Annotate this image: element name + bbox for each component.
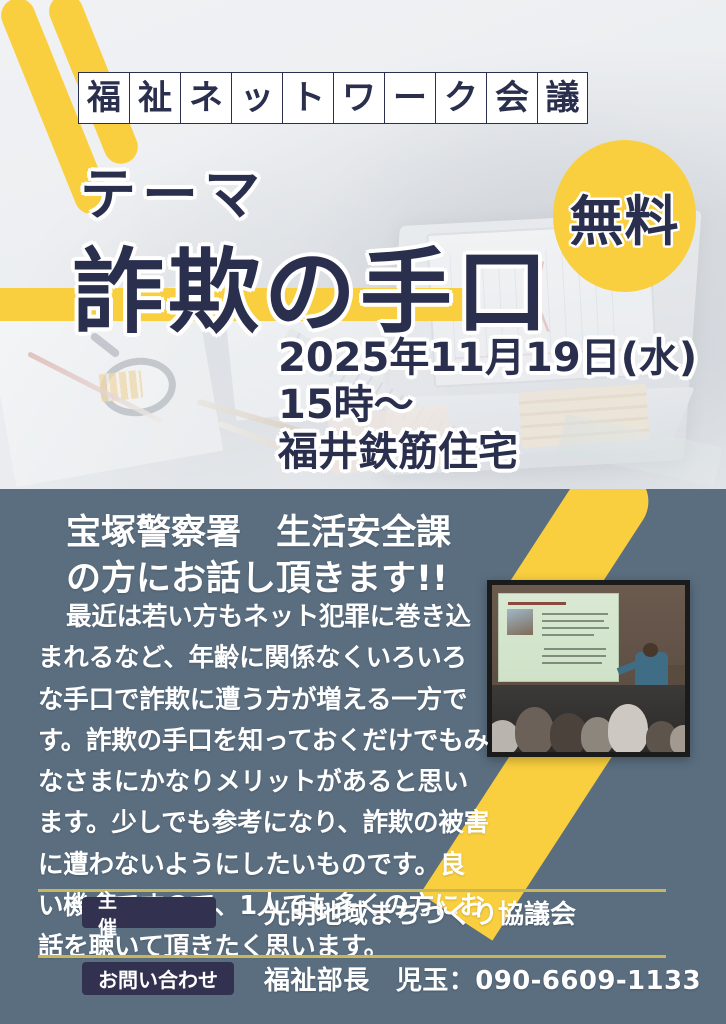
audience-head — [670, 725, 690, 754]
photo-slide-heading-bar — [508, 602, 565, 605]
event-venue: 福井鉄筋住宅 — [278, 429, 697, 476]
poster-root: 福 祉 ネ ッ ト ワ ー ク 会 議 テーマ 詐欺の手口 無料 2025年11… — [0, 0, 726, 1024]
details-section: 宝塚警察署 生活安全課 の方にお話し頂きます!! — [0, 489, 726, 1024]
audience-head — [608, 704, 649, 755]
organizer-name: 光明地域まちづくり協議会 — [264, 894, 576, 931]
photo-slide-line — [542, 627, 609, 629]
page-title: 詐欺の手口 — [72, 218, 552, 351]
photo-slide-line — [542, 634, 595, 636]
speaker-heading-line2: の方にお話し頂きます!! — [66, 556, 451, 602]
free-badge: 無料 — [553, 140, 696, 292]
boxed-title-char: 祉 — [129, 72, 180, 124]
photo-speaker-head — [643, 643, 658, 656]
photo-audience — [492, 685, 685, 752]
event-time: 15時〜 — [278, 382, 697, 429]
photo-slide-illustration — [507, 609, 533, 635]
boxed-title-char: ト — [282, 72, 333, 124]
boxed-title-char: ワ — [333, 72, 384, 124]
boxed-title-char: ー — [384, 72, 435, 124]
header-section: 福 祉 ネ ッ ト ワ ー ク 会 議 テーマ 詐欺の手口 無料 2025年11… — [0, 0, 726, 489]
boxed-title-char: ッ — [231, 72, 282, 124]
photo-slide-line — [542, 655, 607, 657]
photo-slide-line — [542, 662, 602, 664]
organizer-tag: 主 催 — [82, 897, 216, 928]
speaker-heading-line1: 宝塚警察署 生活安全課 — [66, 510, 451, 556]
schedule-block: 2025年11月19日(水) 15時〜 福井鉄筋住宅 — [278, 335, 697, 475]
photo-slide-line — [544, 648, 606, 650]
boxed-title-char: 福 — [78, 72, 129, 124]
boxed-title-char: 会 — [486, 72, 537, 124]
contact-tag: お問い合わせ — [82, 962, 234, 995]
boxed-title: 福 祉 ネ ッ ト ワ ー ク 会 議 — [78, 72, 588, 124]
photo-slide-line — [542, 620, 604, 622]
contact-details: 福祉部長 児玉：090-6609-1133 — [264, 960, 701, 997]
organizer-row: 主 催 光明地域まちづくり協議会 — [82, 894, 576, 931]
free-badge-label: 無料 — [570, 177, 680, 256]
seminar-photo — [487, 580, 690, 757]
audience-head — [515, 707, 554, 755]
divider-bottom — [38, 955, 666, 958]
photo-projection-slide — [498, 593, 620, 682]
boxed-title-char: 議 — [537, 72, 588, 124]
contact-row: お問い合わせ 福祉部長 児玉：090-6609-1133 — [82, 960, 701, 997]
photo-slide-line — [542, 613, 608, 615]
boxed-title-char: ネ — [180, 72, 231, 124]
boxed-title-char: ク — [435, 72, 486, 124]
event-date: 2025年11月19日(水) — [278, 335, 697, 382]
speaker-heading: 宝塚警察署 生活安全課 の方にお話し頂きます!! — [66, 510, 451, 602]
